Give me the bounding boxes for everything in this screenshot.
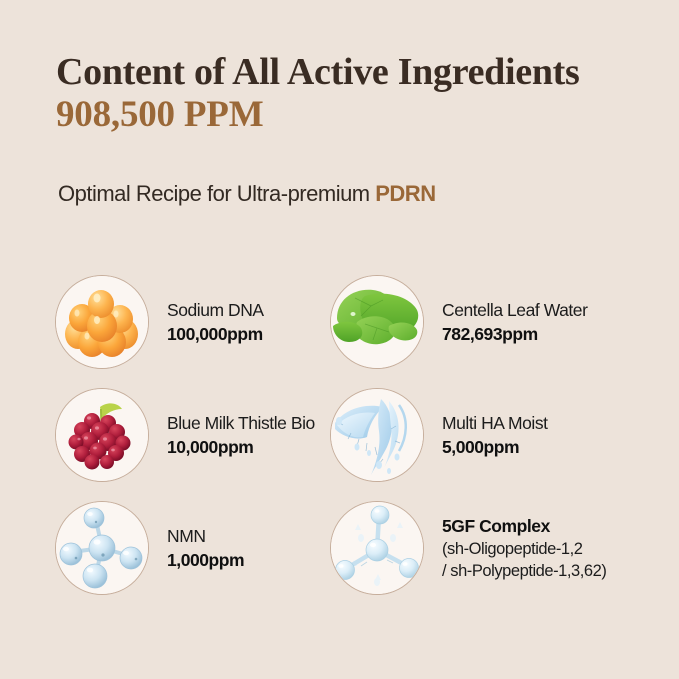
ingredient-item-multi-ha-moist: Multi HA Moist 5,000ppm <box>330 385 548 485</box>
subtitle-prefix: Optimal Recipe for Ultra-premium <box>58 181 375 206</box>
ingredient-value: 1,000ppm <box>167 548 244 573</box>
ingredient-labels: NMN 1,000ppm <box>167 524 244 573</box>
ingredient-value: 10,000ppm <box>167 435 315 460</box>
molecule-cross-icon <box>55 501 149 595</box>
ingredient-labels: 5GF Complex (sh-Oligopeptide-1,2 / sh-Po… <box>442 514 606 582</box>
ingredient-labels: Sodium DNA 100,000ppm <box>167 298 264 347</box>
ingredient-item-nmn: NMN 1,000ppm <box>55 498 244 598</box>
ingredient-item-centella-leaf-water: Centella Leaf Water 782,693ppm <box>330 272 587 372</box>
ingredient-name: 5GF Complex <box>442 514 606 538</box>
subtitle: Optimal Recipe for Ultra-premium PDRN <box>58 180 436 208</box>
ingredient-sub-line1: (sh-Oligopeptide-1,2 <box>442 538 606 560</box>
ingredient-infographic: Content of All Active Ingredients 908,50… <box>0 0 679 679</box>
ingredient-labels: Centella Leaf Water 782,693ppm <box>442 298 587 347</box>
ingredient-labels: Blue Milk Thistle Bio 10,000ppm <box>167 411 315 460</box>
green-leaves-icon <box>330 275 424 369</box>
subtitle-accent-pdrn: PDRN <box>375 181 435 206</box>
ingredient-item-blue-milk-thistle-bio: Blue Milk Thistle Bio 10,000ppm <box>55 385 315 485</box>
ingredient-value: 5,000ppm <box>442 435 548 460</box>
ingredient-row: NMN 1,000ppm <box>0 498 679 611</box>
ingredient-name: Sodium DNA <box>167 298 264 322</box>
ingredient-item-5gf-complex: 5GF Complex (sh-Oligopeptide-1,2 / sh-Po… <box>330 498 606 598</box>
ingredient-name: NMN <box>167 524 244 548</box>
molecule-tri-icon <box>330 501 424 595</box>
ingredient-name: Multi HA Moist <box>442 411 548 435</box>
ingredient-grid: Sodium DNA 100,000ppm <box>0 272 679 611</box>
ingredient-name: Centella Leaf Water <box>442 298 587 322</box>
water-splash-icon <box>330 388 424 482</box>
ingredient-row: Sodium DNA 100,000ppm <box>0 272 679 385</box>
orange-spheres-icon <box>55 275 149 369</box>
page-title-line1: Content of All Active Ingredients <box>56 50 656 94</box>
ingredient-name: Blue Milk Thistle Bio <box>167 411 315 435</box>
page-title-line2: 908,500 PPM <box>56 94 656 136</box>
header: Content of All Active Ingredients 908,50… <box>56 50 656 136</box>
ingredient-sub-line2: / sh-Polypeptide-1,3,62) <box>442 560 606 582</box>
ingredient-item-sodium-dna: Sodium DNA 100,000ppm <box>55 272 264 372</box>
ingredient-labels: Multi HA Moist 5,000ppm <box>442 411 548 460</box>
red-berries-icon <box>55 388 149 482</box>
ingredient-value: 100,000ppm <box>167 322 264 347</box>
ingredient-row: Blue Milk Thistle Bio 10,000ppm <box>0 385 679 498</box>
ingredient-value: 782,693ppm <box>442 322 587 347</box>
